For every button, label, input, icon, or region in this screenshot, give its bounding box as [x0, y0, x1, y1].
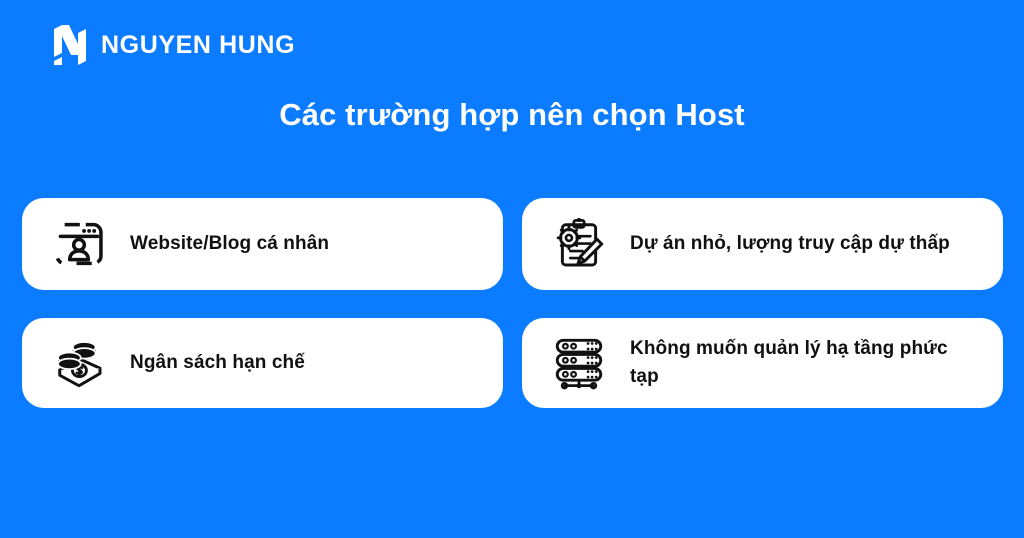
- brand-name: NGUYEN HUNG: [101, 33, 295, 58]
- use-case-card-label: Ngân sách hạn chế: [130, 349, 305, 377]
- brand-logo: NGUYEN HUNG: [52, 23, 295, 67]
- nguyen-hung-monogram-icon: [52, 23, 88, 67]
- page-title: Các trường hợp nên chọn Host: [0, 96, 1024, 135]
- browser-window-user-icon: [48, 213, 110, 275]
- server-rack-network-icon: [548, 332, 610, 394]
- use-case-card-label: Không muốn quản lý hạ tầng phức tạp: [630, 335, 981, 390]
- use-case-card[interactable]: Dự án nhỏ, lượng truy cập dự thấp: [522, 198, 1003, 290]
- clipboard-gear-pencil-icon: [548, 213, 610, 275]
- use-case-card-grid: Website/Blog cá nhân: [22, 198, 1003, 408]
- use-case-card-label: Website/Blog cá nhân: [130, 230, 329, 258]
- use-case-card[interactable]: Không muốn quản lý hạ tầng phức tạp: [522, 318, 1003, 408]
- use-case-card[interactable]: Ngân sách hạn chế: [22, 318, 503, 408]
- use-case-card-label: Dự án nhỏ, lượng truy cập dự thấp: [630, 230, 950, 258]
- use-case-card[interactable]: Website/Blog cá nhân: [22, 198, 503, 290]
- money-coins-banknote-icon: [48, 332, 110, 394]
